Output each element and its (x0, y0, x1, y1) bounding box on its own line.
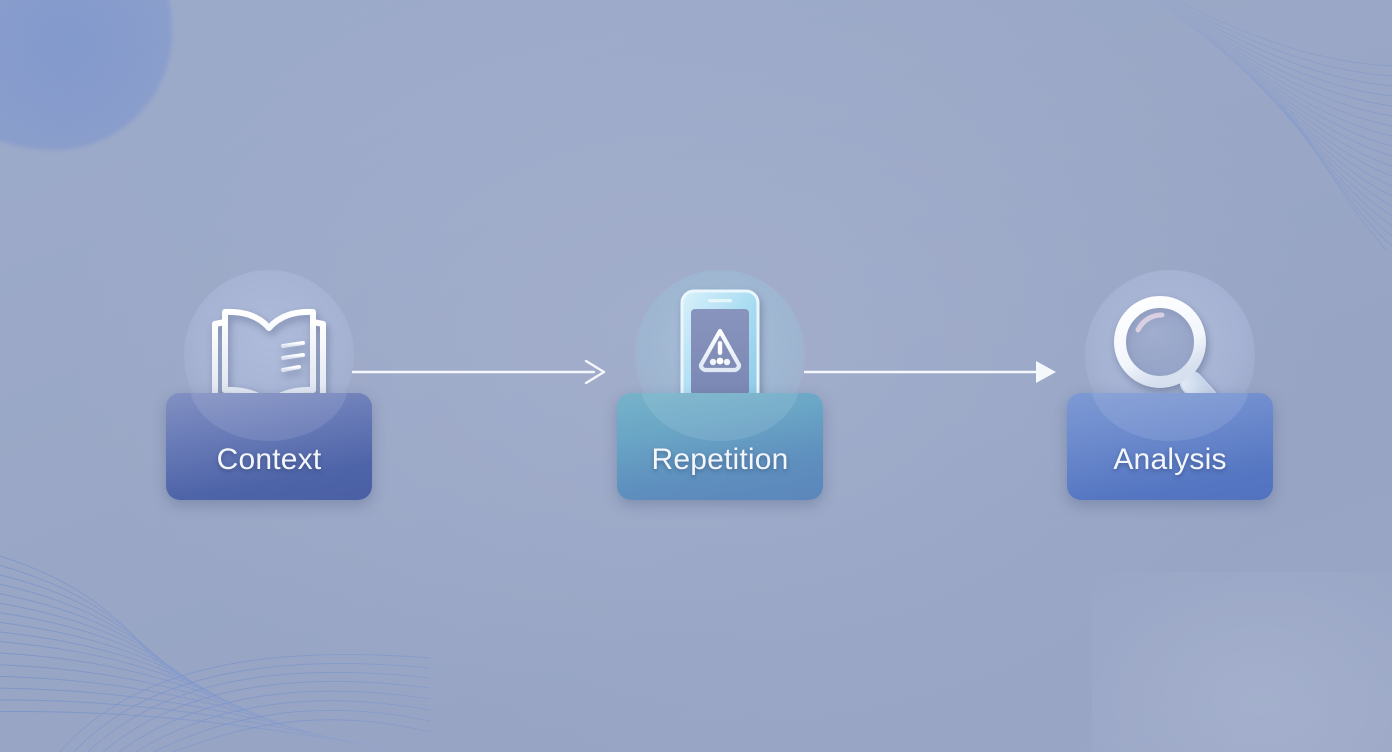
connector-context-to-repetition (352, 355, 610, 389)
process-flow: Context (0, 0, 1392, 752)
flow-node-repetition[interactable]: Repetition (617, 270, 823, 500)
card-sheen (640, 393, 800, 441)
connector-repetition-to-analysis (804, 355, 1060, 389)
node-label-repetition: Repetition (617, 443, 823, 500)
node-label-context: Context (166, 443, 372, 500)
node-card-context[interactable]: Context (166, 393, 372, 500)
node-card-analysis[interactable]: Analysis (1067, 393, 1273, 500)
card-sheen (1090, 393, 1250, 441)
node-card-repetition[interactable]: Repetition (617, 393, 823, 500)
flow-node-context[interactable]: Context (166, 270, 372, 500)
card-sheen (189, 393, 349, 441)
flow-canvas: Context (0, 0, 1392, 752)
flow-node-analysis[interactable]: Analysis (1067, 270, 1273, 500)
node-label-analysis: Analysis (1067, 443, 1273, 500)
